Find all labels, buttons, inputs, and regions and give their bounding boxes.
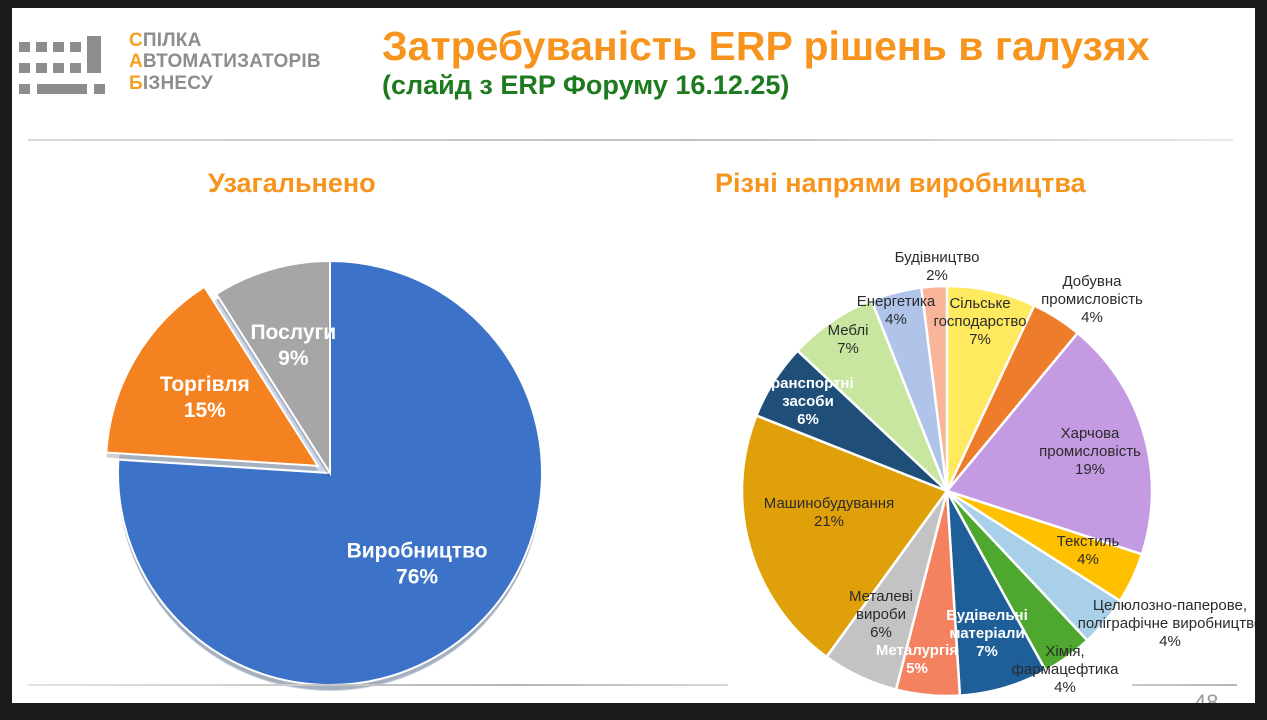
logo-line-1: СПІЛКА xyxy=(129,30,321,51)
logo-line-3-cap: Б xyxy=(129,73,143,94)
page-number: 48 xyxy=(1194,690,1218,703)
logo-line-2-rest: ВТОМАТИЗАТОРІВ xyxy=(143,51,321,72)
slide: СПІЛКА АВТОМАТИЗАТОРІВ БІЗНЕСУ Затребува… xyxy=(12,8,1255,703)
footer-divider-right xyxy=(1132,684,1237,686)
logo-line-3-rest: ІЗНЕСУ xyxy=(143,73,213,94)
logo-line-3: БІЗНЕСУ xyxy=(129,73,321,94)
pie-slice-label-pulp-paper: Целюлозно-паперове,поліграфічне виробниц… xyxy=(1078,597,1255,650)
pie-slice-label-construction: Будівництво2% xyxy=(895,249,980,284)
keyboard-logo-mark-icon xyxy=(17,36,117,108)
left-pie-chart: Виробництво76%Торгівля15%Послуги9% xyxy=(72,198,632,698)
logo-line-2: АВТОМАТИЗАТОРІВ xyxy=(129,51,321,72)
logo-line-1-rest: ПІЛКА xyxy=(143,30,202,51)
slide-title-block: Затребуваність ERP рішень в галузях (сла… xyxy=(382,22,1242,101)
header-divider xyxy=(28,139,1233,141)
organization-logo: СПІЛКА АВТОМАТИЗАТОРІВ БІЗНЕСУ xyxy=(17,30,357,116)
slide-subtitle: (слайд з ERP Форуму 16.12.25) xyxy=(382,70,789,100)
organization-logo-text: СПІЛКА АВТОМАТИЗАТОРІВ БІЗНЕСУ xyxy=(129,30,321,94)
logo-line-1-cap: С xyxy=(129,30,143,51)
footer-divider xyxy=(28,684,728,686)
slide-title: Затребуваність ERP рішень в галузях xyxy=(382,23,1150,69)
logo-line-2-cap: А xyxy=(129,51,143,72)
right-pie-chart: Сільськегосподарство7%Добувнапромисловіс… xyxy=(652,190,1255,702)
slide-header: СПІЛКА АВТОМАТИЗАТОРІВ БІЗНЕСУ Затребува… xyxy=(12,8,1255,134)
left-chart-title: Узагальнено xyxy=(208,168,376,199)
